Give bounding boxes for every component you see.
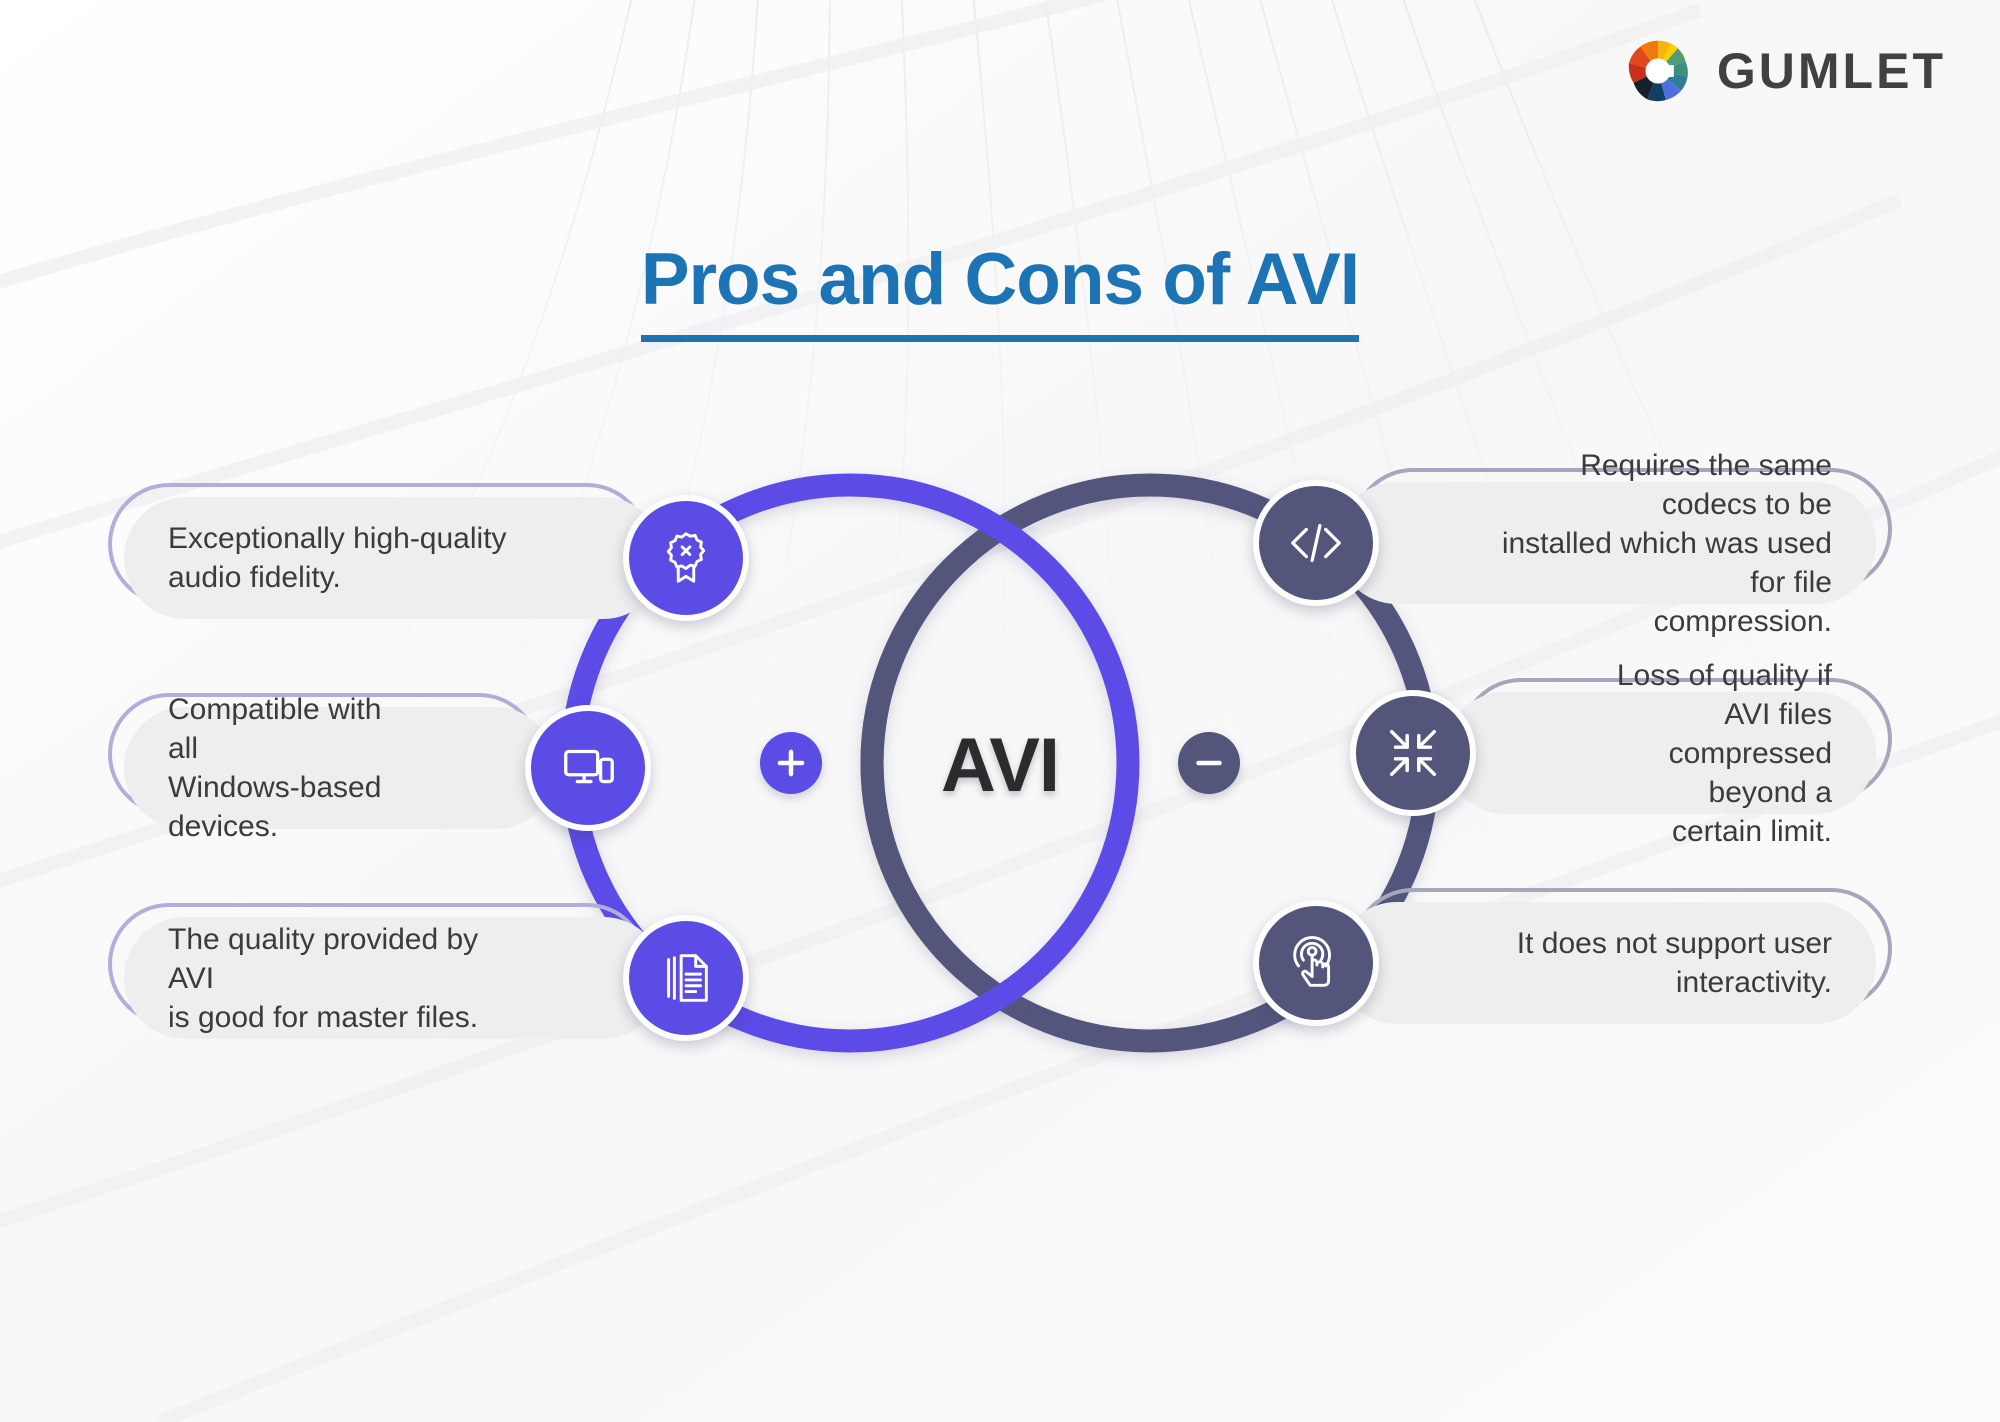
pros-item-1[interactable]: Exceptionally high-quality audio fidelit… xyxy=(124,497,664,619)
cons-item-1-bubble[interactable] xyxy=(1253,480,1379,606)
cons-item-1[interactable]: Requires the same codecs to be installed… xyxy=(1336,482,1876,604)
code-brackets-icon xyxy=(1285,512,1347,574)
pros-item-1-text: Exceptionally high-quality audio fidelit… xyxy=(168,519,507,597)
cons-item-1-text: Requires the same codecs to be installed… xyxy=(1486,446,1832,641)
cons-item-3-bubble[interactable] xyxy=(1253,900,1379,1026)
pros-item-3-bubble[interactable] xyxy=(623,915,749,1041)
pros-item-2-bubble[interactable] xyxy=(525,705,651,831)
cons-item-3-text: It does not support user interactivity. xyxy=(1486,924,1832,1002)
devices-monitor-mobile-icon xyxy=(557,737,619,799)
brand-name: GUMLET xyxy=(1717,42,1946,100)
gumlet-color-wheel-icon xyxy=(1625,38,1691,104)
cons-item-2-bubble[interactable] xyxy=(1350,690,1476,816)
award-badge-icon xyxy=(655,527,717,589)
page-title: Pros and Cons of AVI xyxy=(641,242,1359,342)
pros-item-3-text: The quality provided by AVI is good for … xyxy=(168,920,514,1037)
pros-item-1-bubble[interactable] xyxy=(623,495,749,621)
page-title-wrapper: Pros and Cons of AVI xyxy=(0,242,2000,342)
pros-item-3[interactable]: The quality provided by AVI is good for … xyxy=(124,917,664,1039)
compress-arrows-icon xyxy=(1382,722,1444,784)
cons-item-3[interactable]: It does not support user interactivity. xyxy=(1336,902,1876,1024)
center-label: AVI xyxy=(0,722,2000,809)
tap-gesture-hand-icon xyxy=(1285,932,1347,994)
documents-files-icon xyxy=(655,947,717,1009)
brand-logo: GUMLET xyxy=(1625,38,1946,104)
